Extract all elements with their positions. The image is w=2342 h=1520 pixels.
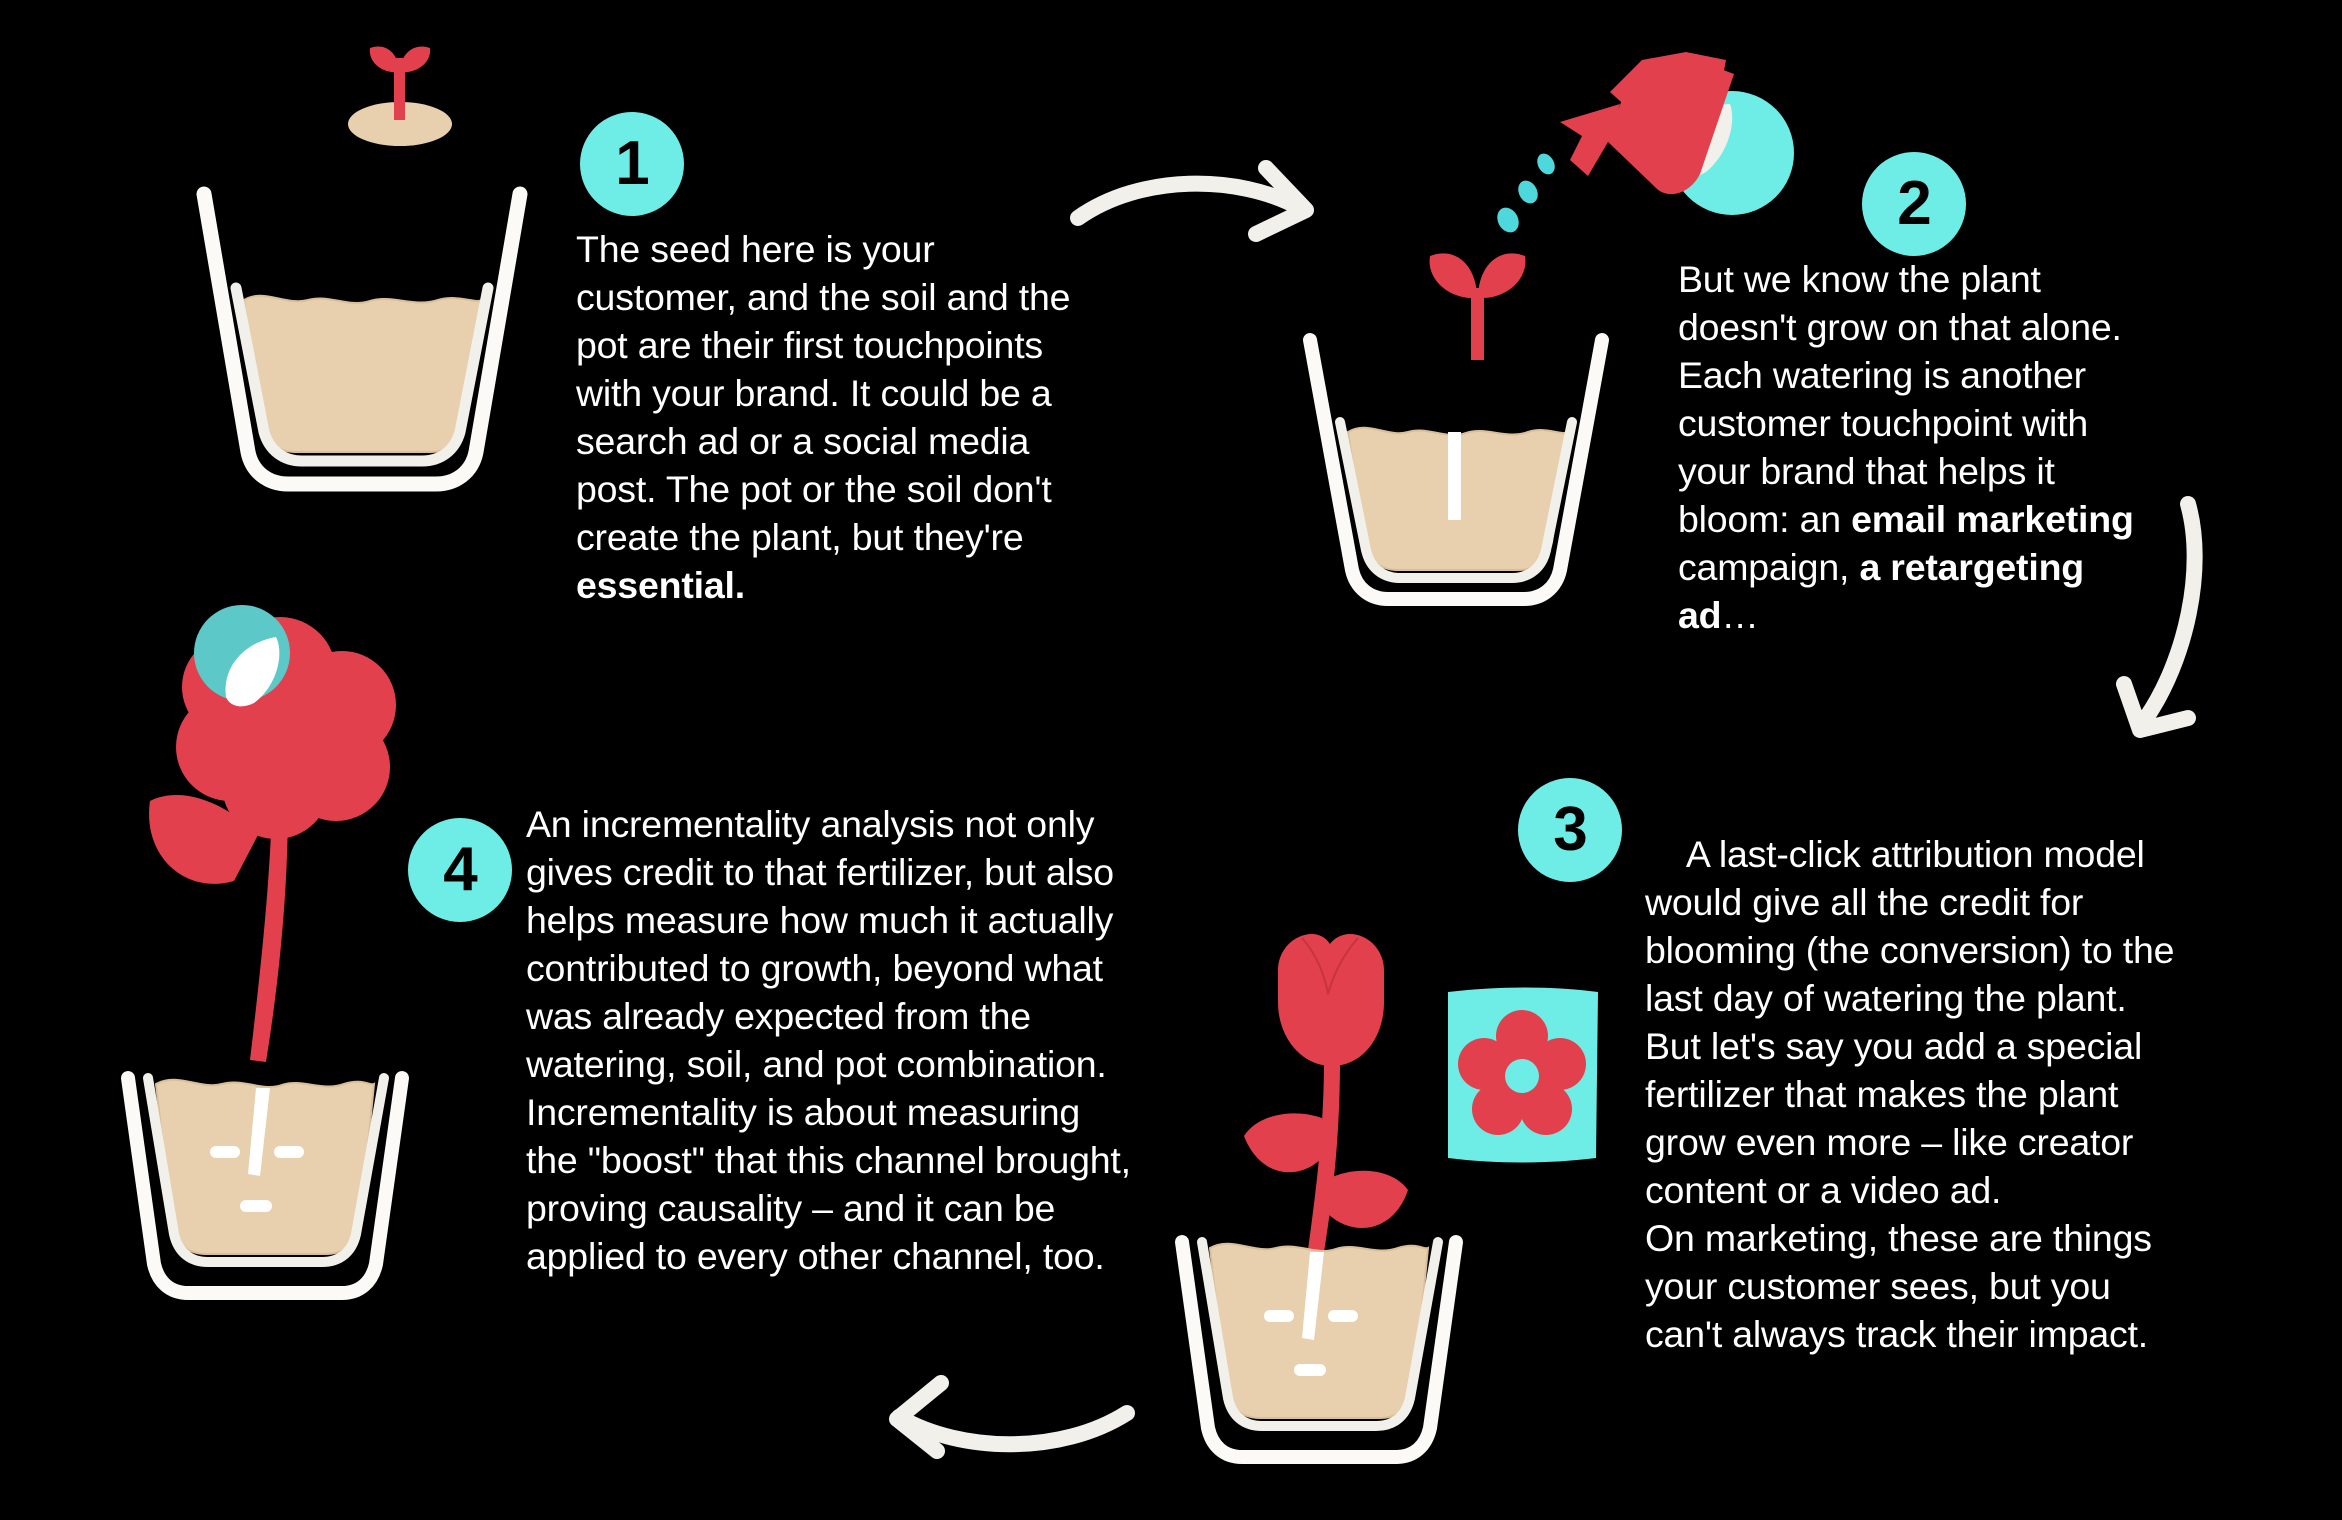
plant-pot-icon [1180, 1212, 1480, 1482]
plant-pot-icon [126, 1048, 426, 1318]
step-4-paragraph: An incrementality analysis not only give… [526, 800, 1140, 1280]
step-badge-2-label: 2 [1897, 173, 1930, 235]
plant-pot-icon [1300, 328, 1610, 608]
step-3-text-run-1: On marketing, these are things your cust… [1645, 1217, 2162, 1355]
step-4-text-run-0: An incrementality analysis not only give… [526, 803, 1131, 1277]
watering-can-icon [1490, 48, 1820, 238]
tulip-icon [1238, 910, 1438, 1260]
step-badge-4: 4 [408, 818, 512, 922]
blossom-icon [130, 595, 410, 1065]
arrow-step1-to-step2 [1070, 160, 1330, 270]
step-badge-3: 3 [1518, 778, 1622, 882]
water-droplet-icon [1493, 151, 1558, 237]
step-badge-1-label: 1 [615, 133, 648, 195]
step-3-paragraph: A last-click attribution model would giv… [1645, 782, 2185, 1406]
step-1-text-run-0: The seed here is your customer, and the … [576, 228, 1070, 558]
plant-pot-icon [190, 180, 530, 490]
step-1-text-run-1: essential. [576, 564, 745, 606]
arrow-step2-to-step3 [2078, 490, 2278, 750]
sprout-icon [320, 28, 480, 148]
step-badge-2: 2 [1862, 152, 1966, 256]
step-2-text-run-2: campaign, [1678, 546, 1859, 588]
step-badge-1: 1 [580, 112, 684, 216]
arrow-step3-to-step4 [875, 1375, 1135, 1485]
step-2-text-run-4: … [1721, 594, 1758, 636]
step-1-paragraph: The seed here is your customer, and the … [576, 225, 1096, 609]
step-badge-3-label: 3 [1553, 799, 1586, 861]
infographic-canvas: 1 The seed here is your customer, and th… [0, 0, 2342, 1520]
step-badge-4-label: 4 [443, 839, 476, 901]
fertilizer-packet-icon [1440, 980, 1605, 1170]
step-3-text-run-0: A last-click attribution model would giv… [1645, 833, 2185, 1211]
